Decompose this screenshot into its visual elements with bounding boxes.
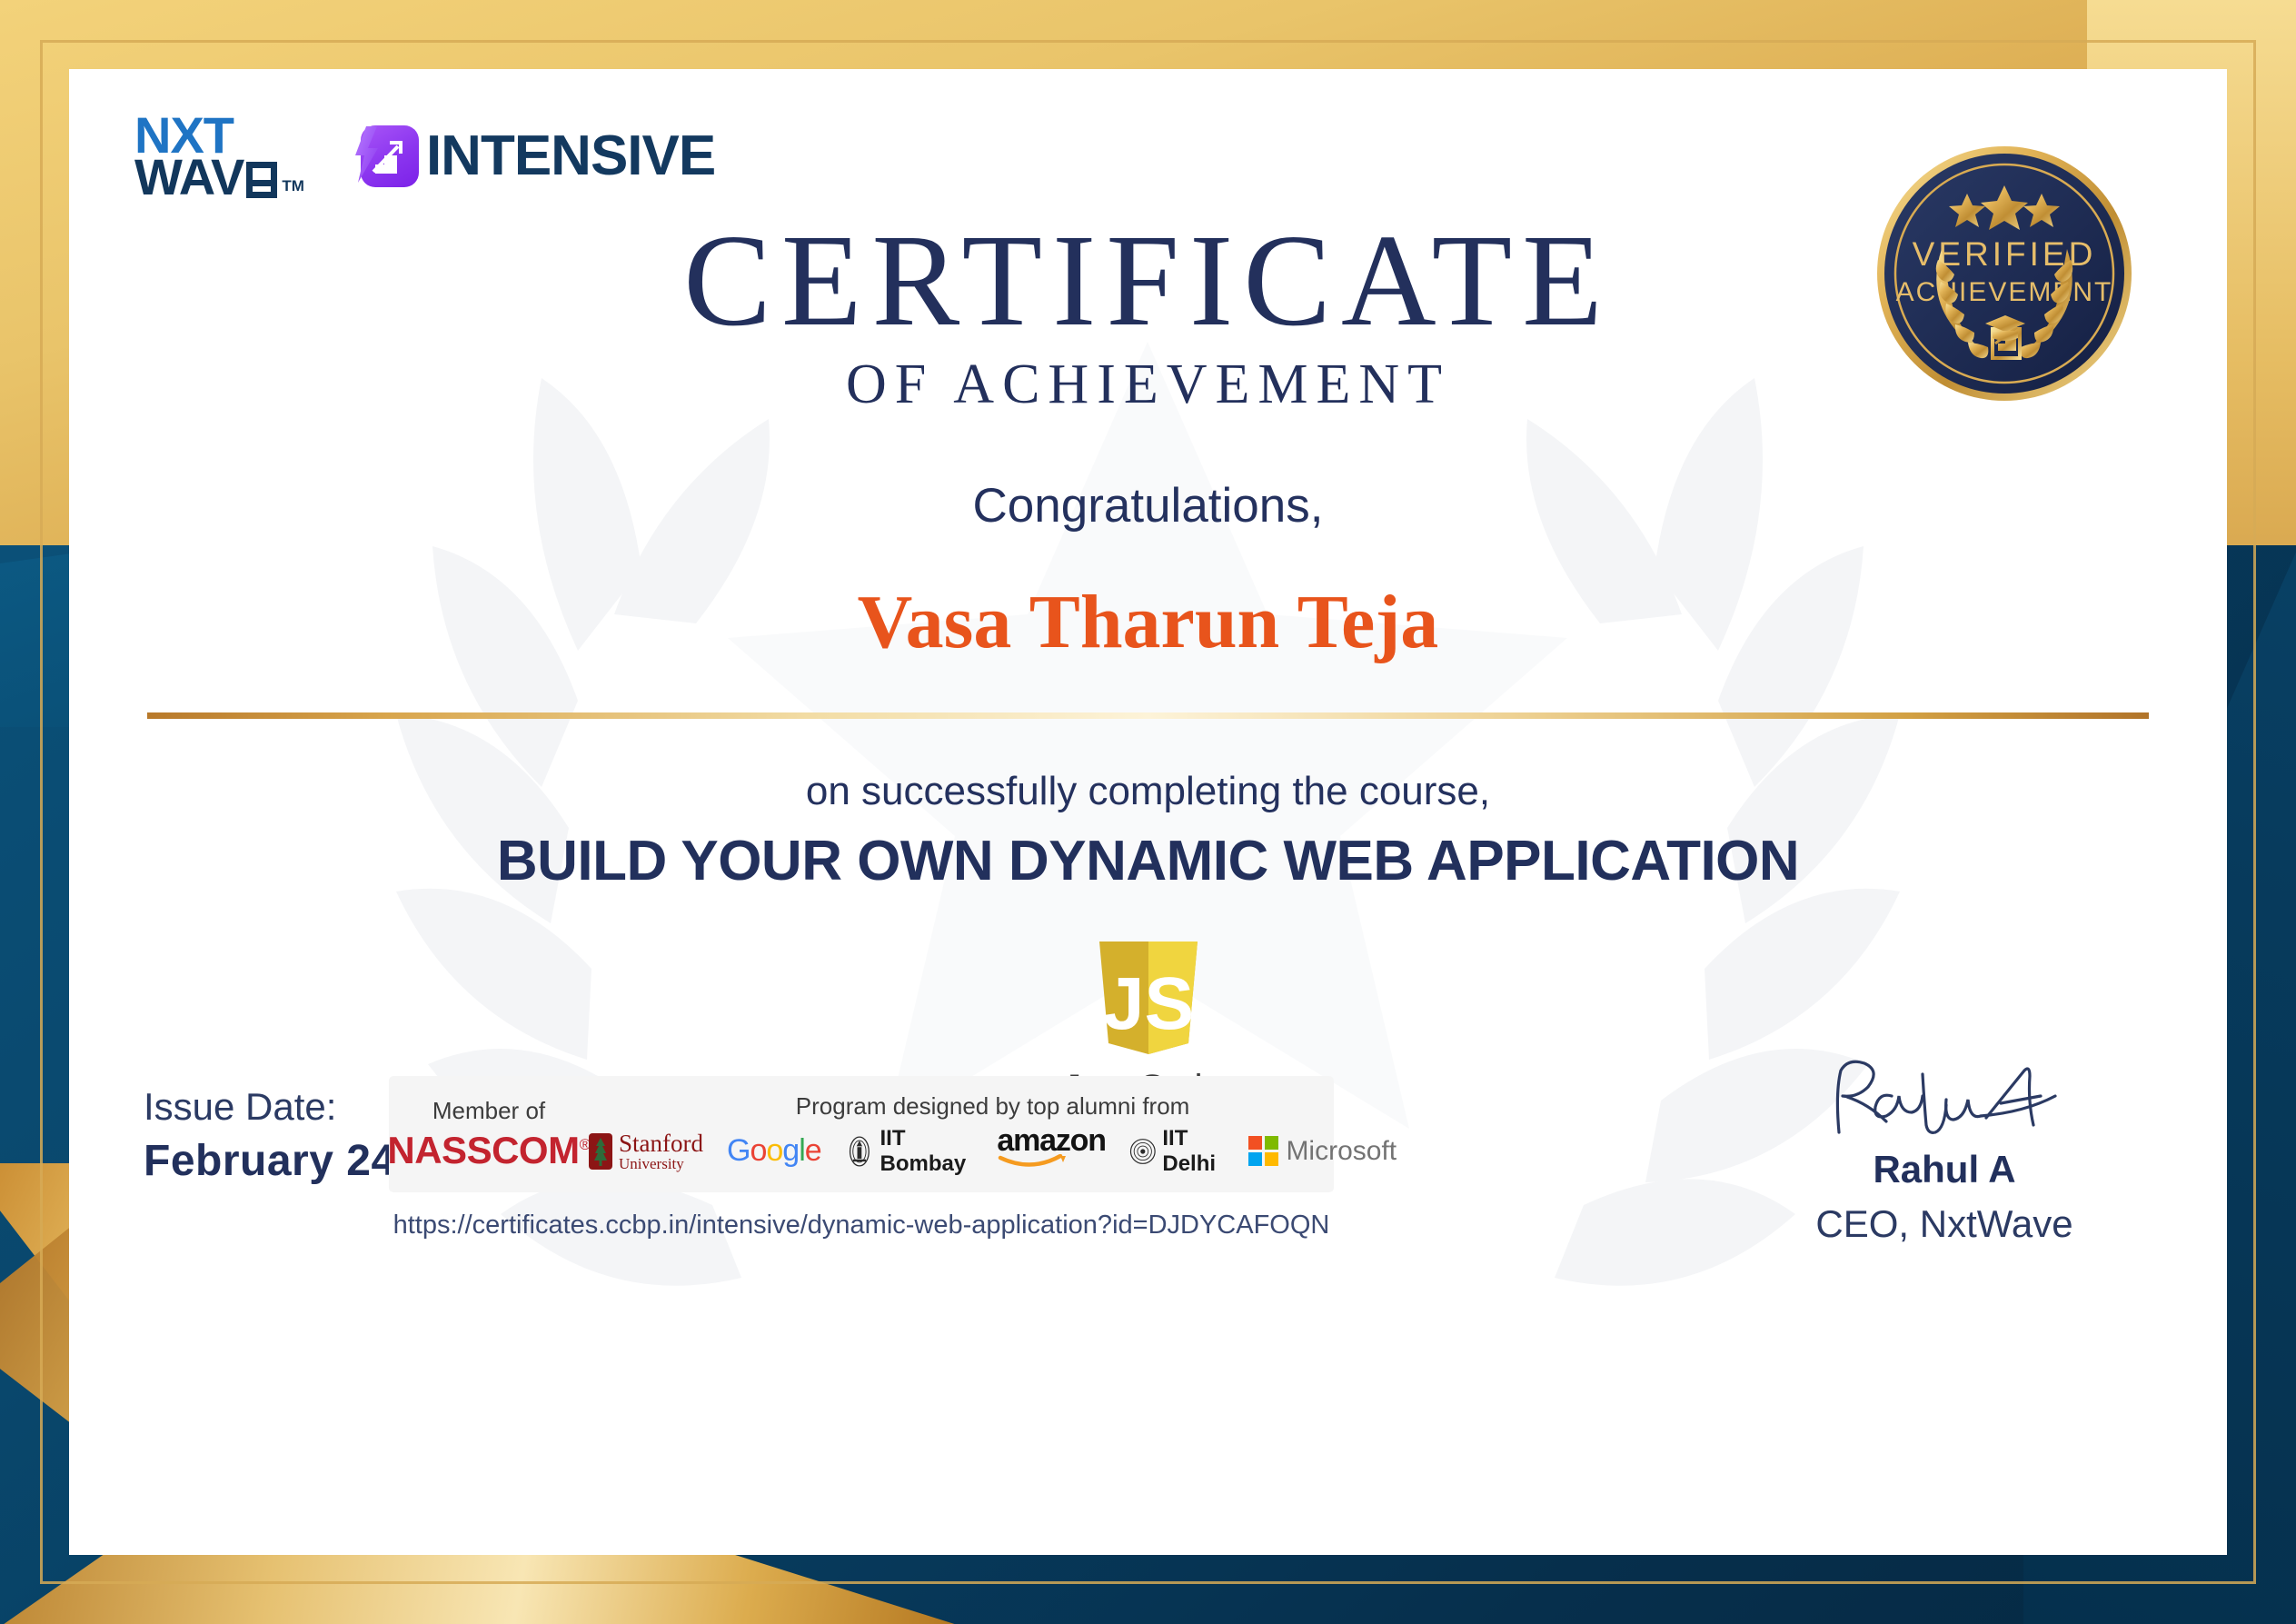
congratulations-text: Congratulations, bbox=[69, 478, 2227, 533]
stanford-tree-icon bbox=[589, 1131, 612, 1171]
certificate-card: NXT WAV TM bbox=[69, 69, 2227, 1555]
nasscom-logo-text: NASSCOM bbox=[387, 1129, 579, 1171]
recipient-name: Vasa Tharun Teja bbox=[69, 578, 2227, 666]
signature-block: Rahul A CEO, NxtWave bbox=[1749, 1056, 2140, 1246]
signatory-role: CEO, NxtWave bbox=[1749, 1202, 2140, 1246]
alumni-caption: Program designed by top alumni from bbox=[796, 1092, 1190, 1121]
amazon-wordmark: amazon bbox=[997, 1129, 1105, 1153]
amazon-smile-icon bbox=[997, 1154, 1066, 1169]
member-caption: Member of bbox=[432, 1097, 545, 1125]
amazon-logo: amazon bbox=[997, 1129, 1105, 1172]
verification-url[interactable]: https://certificates.ccbp.in/intensive/d… bbox=[389, 1211, 1334, 1240]
javascript-icon: JS bbox=[1094, 942, 1203, 1054]
iit-bombay-crest-icon bbox=[845, 1131, 874, 1171]
intensive-icon bbox=[346, 123, 413, 190]
microsoft-squares-icon bbox=[1248, 1136, 1279, 1167]
nxtwave-logo-wave-text: WAV bbox=[134, 156, 244, 198]
nxtwave-logo-line2: WAV TM bbox=[134, 156, 304, 198]
microsoft-text: Microsoft bbox=[1286, 1136, 1396, 1167]
intensive-logo: INTENSIVE bbox=[346, 123, 715, 190]
completion-text: on successfully completing the course, bbox=[69, 769, 2227, 814]
certificate-page: NXT WAV TM bbox=[0, 0, 2296, 1624]
signatory-name: Rahul A bbox=[1749, 1148, 2140, 1191]
gold-divider bbox=[147, 712, 2149, 719]
stanford-logo: Stanford University bbox=[589, 1131, 703, 1171]
iit-delhi-logo: IIT Delhi bbox=[1129, 1126, 1226, 1177]
certificate-subtitle: OF ACHIEVEMENT bbox=[69, 353, 2227, 417]
alumni-logo-row: Stanford University Google bbox=[589, 1126, 1396, 1177]
javascript-mark-text: JS bbox=[1102, 962, 1193, 1045]
nxtwave-e-glyph bbox=[246, 162, 277, 198]
iit-delhi-crest-icon bbox=[1129, 1132, 1157, 1171]
header-logos: NXT WAV TM bbox=[134, 115, 715, 198]
intensive-wordmark: INTENSIVE bbox=[426, 124, 715, 188]
google-logo: Google bbox=[727, 1133, 821, 1169]
partners-bar: Member of NASSCOM® Program designed by t… bbox=[389, 1076, 1334, 1192]
nxtwave-logo: NXT WAV TM bbox=[134, 115, 304, 198]
trademark-symbol: TM bbox=[282, 180, 304, 193]
alumni-block: Program designed by top alumni from Stan… bbox=[589, 1076, 1396, 1192]
course-name: BUILD YOUR OWN DYNAMIC WEB APPLICATION bbox=[69, 829, 2227, 893]
iit-delhi-text: IIT Delhi bbox=[1162, 1126, 1225, 1177]
certificate-title: CERTIFICATE bbox=[69, 205, 2227, 356]
stanford-text: Stanford University bbox=[619, 1131, 703, 1171]
member-block: Member of NASSCOM® bbox=[389, 1076, 589, 1192]
stanford-sub: University bbox=[619, 1156, 703, 1171]
iit-bombay-logo: IIT Bombay bbox=[845, 1126, 974, 1177]
iit-bombay-text: IIT Bombay bbox=[880, 1126, 974, 1177]
nasscom-logo: NASSCOM® bbox=[387, 1129, 590, 1172]
microsoft-logo: Microsoft bbox=[1248, 1136, 1396, 1167]
signature-icon bbox=[1808, 1056, 2081, 1140]
stanford-name: Stanford bbox=[619, 1131, 703, 1156]
